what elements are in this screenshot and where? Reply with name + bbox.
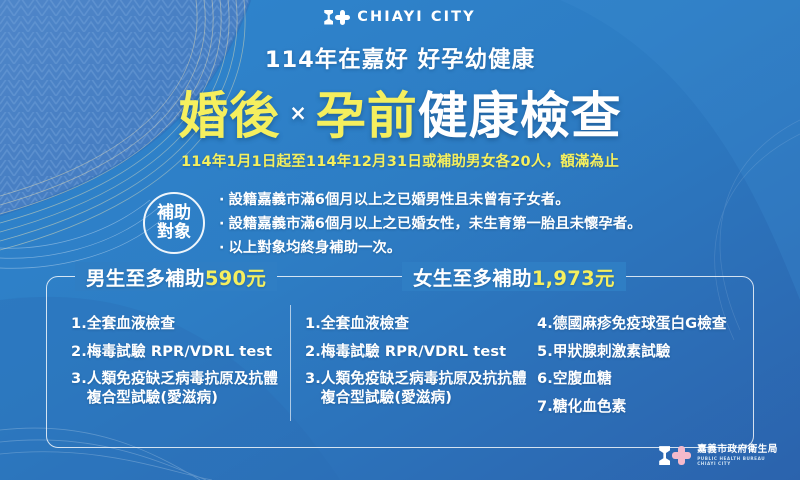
- list-item: 4. 德國麻疹免疫球蛋白G檢查: [537, 315, 747, 334]
- female-item-list-col1: 1. 全套血液檢查 2. 梅毒試驗 RPR/VDRL test 3. 人類免疫缺…: [305, 315, 533, 417]
- item-number: 6.: [537, 370, 553, 389]
- male-heading-amount: 590元: [205, 267, 266, 290]
- item-label: 空腹血糖: [553, 370, 747, 389]
- period-note: 114年1月1日起至114年12月31日或補助男女各20人，額滿為止: [0, 150, 800, 171]
- section-divider: [290, 305, 291, 421]
- footer-logo: 嘉義市政府衛生局 PUBLIC HEALTH BUREAU CHIAYI CIT…: [659, 445, 778, 466]
- item-number: 1.: [71, 315, 87, 334]
- eligibility-block: 補助 對象 設籍嘉義市滿6個月以上之已婚男性且未曾有子女者。 設籍嘉義市滿6個月…: [143, 188, 760, 257]
- male-section-heading: 男生至多補助590元: [75, 262, 277, 291]
- female-item-list-col2: 4. 德國麻疹免疫球蛋白G檢查 5. 甲狀腺刺激素試驗 6. 空腹血糖 7. 糖…: [537, 315, 747, 426]
- eligibility-list: 設籍嘉義市滿6個月以上之已婚男性且未曾有子女者。 設籍嘉義市滿6個月以上之已婚女…: [219, 188, 642, 257]
- list-item: 3. 人類免疫缺乏病毒抗原及抗抗體複合型試驗(愛滋病): [305, 370, 533, 407]
- benefits-card: 男生至多補助590元 女生至多補助1,973元 1. 全套血液檢查 2. 梅毒試…: [46, 276, 754, 448]
- title-separator: ×: [280, 101, 316, 125]
- footer-org: 嘉義市政府衛生局 PUBLIC HEALTH BUREAU CHIAYI CIT…: [697, 445, 778, 466]
- list-item: 2. 梅毒試驗 RPR/VDRL test: [71, 343, 283, 362]
- chiayi-city-logo-icon: [324, 10, 350, 25]
- list-item: 5. 甲狀腺刺激素試驗: [537, 343, 747, 362]
- item-number: 1.: [305, 315, 321, 334]
- footer-org-cn: 嘉義市政府衛生局: [697, 445, 778, 455]
- female-heading-text: 女生至多補助: [413, 267, 532, 290]
- female-heading-amount: 1,973元: [532, 267, 615, 290]
- item-number: 5.: [537, 343, 553, 362]
- title-plain: 健康檢查: [418, 87, 622, 145]
- item-label: 全套血液檢查: [321, 315, 533, 334]
- list-item: 以上對象均終身補助一次。: [219, 236, 642, 257]
- list-item: 1. 全套血液檢查: [305, 315, 533, 334]
- list-item: 6. 空腹血糖: [537, 370, 747, 389]
- eligibility-badge: 補助 對象: [143, 192, 205, 254]
- female-section-heading: 女生至多補助1,973元: [402, 262, 626, 291]
- item-label: 全套血液檢查: [87, 315, 283, 334]
- item-number: 7.: [537, 398, 553, 417]
- footer-org-en2: CHIAYI CITY: [697, 462, 778, 466]
- badge-line-2: 對象: [157, 223, 191, 241]
- list-item: 7. 糖化血色素: [537, 398, 747, 417]
- title-highlight-2: 孕前: [316, 87, 418, 145]
- page-title: 婚後×孕前健康檢查: [0, 76, 800, 148]
- tagline: 114年在嘉好 好孕幼健康: [0, 42, 800, 74]
- item-number: 3.: [305, 370, 321, 407]
- item-number: 3.: [71, 370, 87, 407]
- male-item-list: 1. 全套血液檢查 2. 梅毒試驗 RPR/VDRL test 3. 人類免疫缺…: [71, 315, 283, 417]
- list-item: 2. 梅毒試驗 RPR/VDRL test: [305, 343, 533, 362]
- item-number: 2.: [305, 343, 321, 362]
- health-bureau-logo-icon: [659, 446, 691, 465]
- badge-line-1: 補助: [157, 204, 191, 222]
- list-item: 設籍嘉義市滿6個月以上之已婚男性且未曾有子女者。: [219, 188, 642, 209]
- item-label: 糖化血色素: [553, 398, 747, 417]
- brand-label: CHIAYI CITY: [357, 9, 475, 25]
- item-number: 4.: [537, 315, 553, 334]
- item-label: 人類免疫缺乏病毒抗原及抗體複合型試驗(愛滋病): [87, 370, 283, 407]
- item-number: 2.: [71, 343, 87, 362]
- item-label: 梅毒試驗 RPR/VDRL test: [87, 343, 283, 362]
- header-logo: CHIAYI CITY: [0, 9, 800, 25]
- title-highlight-1: 婚後: [178, 87, 280, 145]
- item-label: 甲狀腺刺激素試驗: [553, 343, 747, 362]
- item-label: 德國麻疹免疫球蛋白G檢查: [553, 315, 747, 334]
- list-item: 設籍嘉義市滿6個月以上之已婚女性，未生育第一胎且未懷孕者。: [219, 212, 642, 233]
- list-item: 3. 人類免疫缺乏病毒抗原及抗體複合型試驗(愛滋病): [71, 370, 283, 407]
- item-label: 人類免疫缺乏病毒抗原及抗抗體複合型試驗(愛滋病): [321, 370, 533, 407]
- male-heading-text: 男生至多補助: [86, 267, 205, 290]
- item-label: 梅毒試驗 RPR/VDRL test: [321, 343, 533, 362]
- list-item: 1. 全套血液檢查: [71, 315, 283, 334]
